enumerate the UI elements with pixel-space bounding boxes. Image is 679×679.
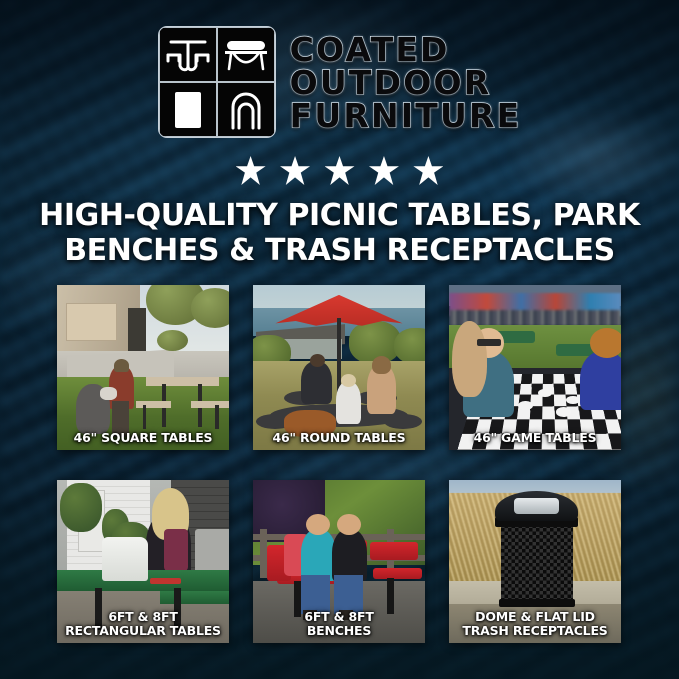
brand-name-line-1: COATED xyxy=(290,34,522,66)
product-caption: 46" SQUARE TABLES xyxy=(57,431,229,445)
product-tile-round-tables[interactable]: 46" ROUND TABLES xyxy=(253,285,425,450)
bench-table-icon xyxy=(217,27,275,82)
product-tile-benches[interactable]: 6FT & 8FT BENCHES xyxy=(253,480,425,643)
product-tile-rectangular-tables[interactable]: 6FT & 8FT RECTANGULAR TABLES xyxy=(57,480,229,643)
product-caption-line: TRASH RECEPTACLES xyxy=(452,624,618,638)
product-caption-line: 46" SQUARE TABLES xyxy=(60,431,226,445)
star-icon xyxy=(413,156,443,185)
product-caption-line: 46" ROUND TABLES xyxy=(256,431,422,445)
brand-name: COATED OUTDOOR FURNITURE xyxy=(290,32,522,132)
product-caption: 6FT & 8FT RECTANGULAR TABLES xyxy=(57,610,229,638)
product-caption-line: DOME & FLAT LID xyxy=(452,610,618,624)
product-photo xyxy=(449,285,621,450)
star-icon xyxy=(325,156,355,185)
product-caption-line: 6FT & 8FT xyxy=(256,610,422,624)
product-tile-square-tables[interactable]: 46" SQUARE TABLES xyxy=(57,285,229,450)
headline: HIGH-QUALITY PICNIC TABLES, PARK BENCHES… xyxy=(0,199,679,269)
product-caption-line: RECTANGULAR TABLES xyxy=(60,624,226,638)
star-icon xyxy=(369,156,399,185)
product-caption-line: 6FT & 8FT xyxy=(60,610,226,624)
star-icon xyxy=(280,156,310,185)
product-grid: 46" SQUARE TABLES xyxy=(57,285,622,643)
star-icon xyxy=(236,156,266,185)
product-caption: DOME & FLAT LID TRASH RECEPTACLES xyxy=(449,610,621,638)
brand-logo: COATED OUTDOOR FURNITURE xyxy=(0,26,679,138)
headline-line-2: BENCHES & TRASH RECEPTACLES xyxy=(34,234,645,269)
bike-rack-icon xyxy=(217,82,275,137)
headline-line-1: HIGH-QUALITY PICNIC TABLES, PARK xyxy=(34,199,645,234)
product-tile-game-tables[interactable]: 46" GAME TABLES xyxy=(449,285,621,450)
product-tile-trash-receptacles[interactable]: DOME & FLAT LID TRASH RECEPTACLES xyxy=(449,480,621,643)
product-caption-line: BENCHES xyxy=(256,624,422,638)
product-caption: 46" GAME TABLES xyxy=(449,431,621,445)
brand-name-line-2: OUTDOOR xyxy=(290,67,522,99)
product-photo xyxy=(253,285,425,450)
brand-name-line-3: FURNITURE xyxy=(290,100,522,132)
product-caption-line: 46" GAME TABLES xyxy=(452,431,618,445)
product-caption: 6FT & 8FT BENCHES xyxy=(253,610,425,638)
promotional-banner: COATED OUTDOOR FURNITURE HIGH-QUALITY PI… xyxy=(0,0,679,679)
logo-icon-grid xyxy=(158,26,276,138)
product-caption: 46" ROUND TABLES xyxy=(253,431,425,445)
picnic-table-icon xyxy=(159,27,217,82)
star-rating xyxy=(0,156,679,185)
trash-receptacle-icon xyxy=(159,82,217,137)
product-photo xyxy=(57,285,229,450)
